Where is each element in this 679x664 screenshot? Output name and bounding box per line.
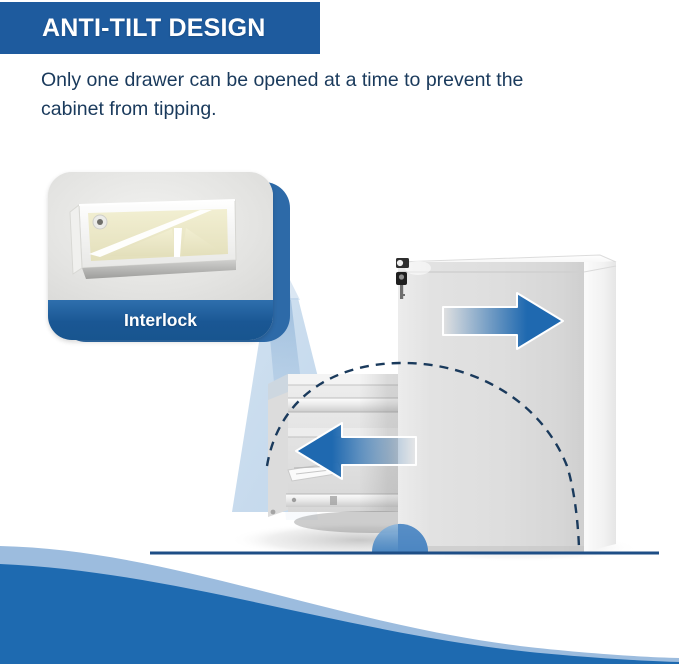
infographic-canvas: ANTI-TILT DESIGN Only one drawer can be … (0, 0, 679, 664)
key-head-hole-icon (399, 274, 404, 279)
key-shaft-icon (400, 285, 403, 299)
interlock-bracket-photo (48, 172, 273, 300)
bracket-mount-hole (97, 219, 103, 225)
lock-keyhole-icon (397, 260, 403, 266)
slide-roller (292, 498, 296, 502)
cabinet-front-face (398, 262, 584, 552)
interlock-label-text: Interlock (124, 310, 197, 331)
key-tooth-icon (400, 294, 405, 296)
slide-bracket-clip (330, 496, 337, 505)
cabinet-side-face (584, 262, 616, 552)
filing-cabinet (398, 255, 616, 552)
interlock-callout-card[interactable]: Interlock (48, 172, 273, 340)
drawer-mount-screw (271, 510, 276, 515)
interlock-bracket-drawing (48, 172, 273, 300)
interlock-label-bar: Interlock (48, 300, 273, 340)
